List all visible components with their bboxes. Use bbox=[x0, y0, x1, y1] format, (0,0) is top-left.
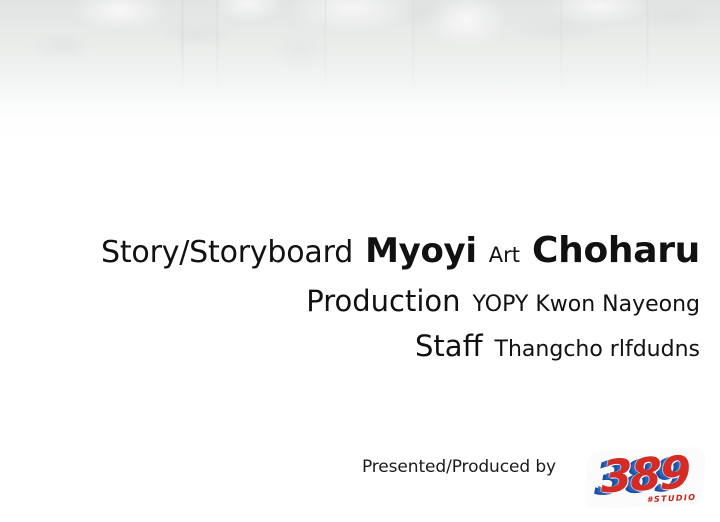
texture-fade-to-white bbox=[0, 0, 720, 150]
top-texture-background bbox=[0, 0, 720, 150]
credit-line-staff: StaffThangcho rlfdudns bbox=[20, 332, 700, 361]
credit-name-myoyi: Myoyi bbox=[365, 231, 477, 271]
credit-line-story-art: Story/StoryboardMyoyiArtChoharu bbox=[20, 233, 700, 269]
credit-name-production: YOPY Kwon Nayeong bbox=[473, 292, 700, 317]
credit-name-staff: Thangcho rlfdudns bbox=[495, 337, 700, 362]
studio-389-logo: 389 389 389 #STUDIO bbox=[584, 447, 706, 515]
texture-streaks bbox=[0, 0, 720, 150]
texture-clouds bbox=[0, 0, 720, 150]
credits-block: Story/StoryboardMyoyiArtChoharu Producti… bbox=[20, 233, 700, 361]
credit-role-production: Production bbox=[306, 284, 460, 318]
credit-name-choharu: Choharu bbox=[532, 230, 700, 271]
presented-by-label: Presented/Produced by bbox=[362, 457, 556, 477]
credits-page: Story/StoryboardMyoyiArtChoharu Producti… bbox=[0, 0, 720, 522]
credit-line-production: ProductionYOPY Kwon Nayeong bbox=[20, 287, 700, 316]
footer-presented-by: Presented/Produced by 389 389 389 #STUDI… bbox=[0, 447, 720, 519]
credit-role-art: Art bbox=[489, 243, 520, 267]
texture-gradient bbox=[0, 0, 720, 150]
credit-role-story-storyboard: Story/Storyboard bbox=[101, 235, 353, 270]
credit-role-staff: Staff bbox=[415, 329, 483, 363]
